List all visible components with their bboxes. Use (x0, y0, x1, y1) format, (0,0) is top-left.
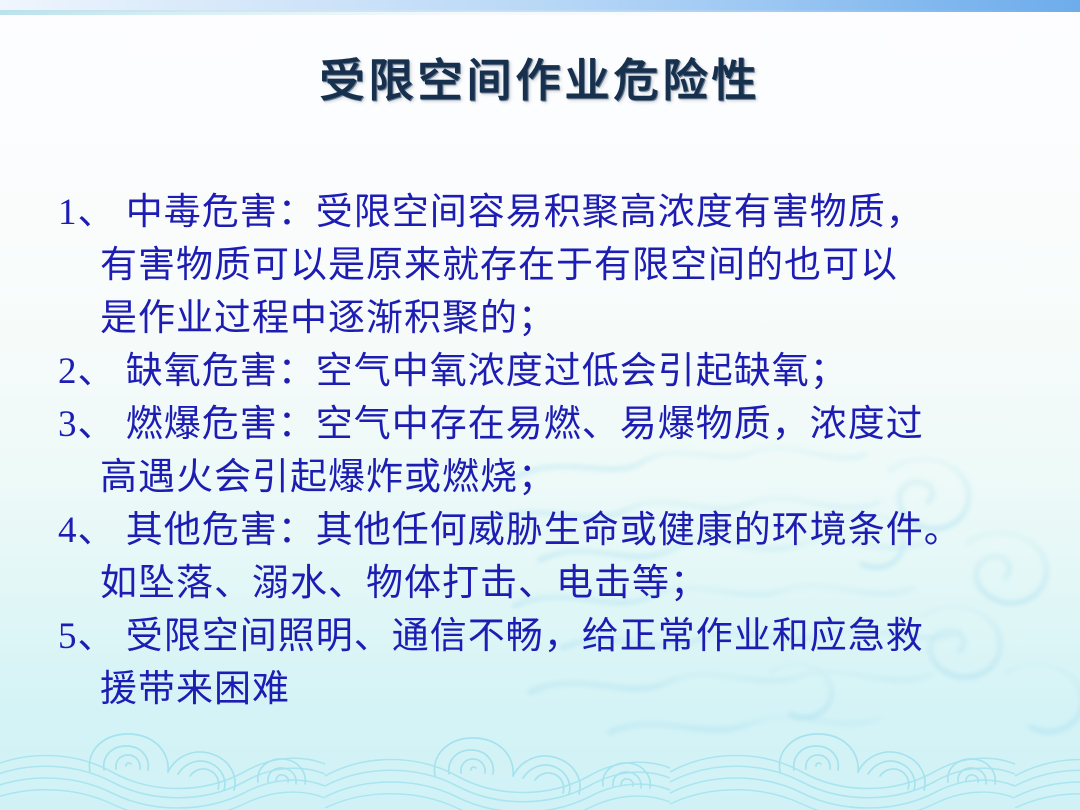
slide-canvas: 受限空间作业危险性 1、 中毒危害：受限空间容易积聚高浓度有害物质， 有害物质可… (0, 0, 1080, 810)
list-item: 1、 中毒危害：受限空间容易积聚高浓度有害物质， 有害物质可以是原来就存在于有限… (58, 186, 1034, 345)
list-item-line: 如坠落、溺水、物体打击、电击等； (58, 557, 1034, 610)
list-item-line: 2、 缺氧危害：空气中氧浓度过低会引起缺氧； (58, 345, 1034, 398)
hazard-list: 1、 中毒危害：受限空间容易积聚高浓度有害物质， 有害物质可以是原来就存在于有限… (58, 186, 1034, 716)
list-item: 3、 燃爆危害：空气中存在易燃、易爆物质，浓度过 高遇火会引起爆炸或燃烧； (58, 398, 1034, 504)
list-item-line: 有害物质可以是原来就存在于有限空间的也可以 (58, 239, 1034, 292)
list-item: 4、 其他危害：其他任何威胁生命或健康的环境条件。 如坠落、溺水、物体打击、电击… (58, 504, 1034, 610)
list-item-line: 1、 中毒危害：受限空间容易积聚高浓度有害物质， (58, 186, 1034, 239)
list-item-line: 高遇火会引起爆炸或燃烧； (58, 451, 1034, 504)
list-item-line: 4、 其他危害：其他任何威胁生命或健康的环境条件。 (58, 504, 1034, 557)
list-item: 5、 受限空间照明、通信不畅，给正常作业和应急救 援带来困难 (58, 610, 1034, 716)
page-title: 受限空间作业危险性 (0, 44, 1080, 109)
chinese-wave-pattern-icon (0, 720, 1080, 810)
list-item: 2、 缺氧危害：空气中氧浓度过低会引起缺氧； (58, 345, 1034, 398)
list-item-line: 5、 受限空间照明、通信不畅，给正常作业和应急救 (58, 610, 1034, 663)
list-item-line: 是作业过程中逐渐积聚的； (58, 292, 1034, 345)
list-item-line: 3、 燃爆危害：空气中存在易燃、易爆物质，浓度过 (58, 398, 1034, 451)
top-accent-bar-secondary (0, 10, 1080, 15)
list-item-line: 援带来困难 (58, 663, 1034, 716)
